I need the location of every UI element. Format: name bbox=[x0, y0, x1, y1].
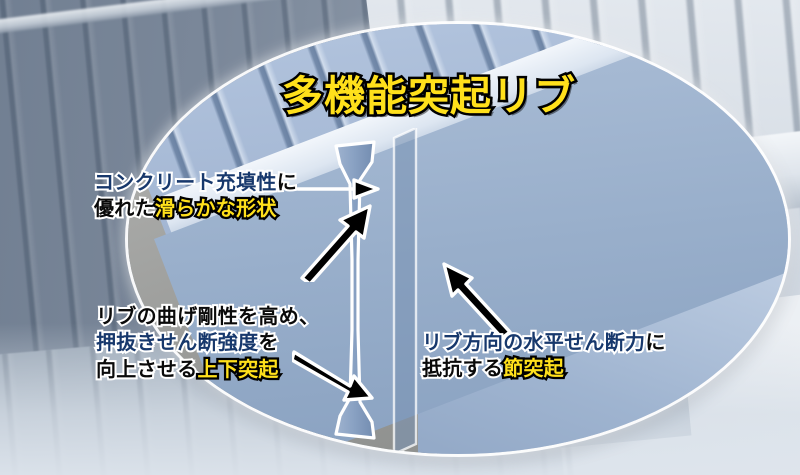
callout-text-navy: リブ方向の水平せん断力 bbox=[422, 332, 645, 354]
rib-side-edge bbox=[390, 128, 430, 454]
callout-line: 優れた滑らかな形状 bbox=[94, 196, 297, 222]
callout-text-black: 優れた bbox=[94, 198, 155, 220]
callout-line: コンクリート充填性に bbox=[94, 170, 297, 196]
callout-line: リブ方向の水平せん断力に bbox=[422, 330, 666, 356]
callout-text-black: 向上させる bbox=[96, 359, 198, 381]
callout-text-yellow: 節突起 bbox=[503, 358, 564, 380]
callout-line: 向上させる上下突起 bbox=[96, 357, 319, 383]
callout-text-black: に bbox=[645, 332, 665, 354]
figure-title: 多機能突起リブ bbox=[282, 62, 576, 122]
callout-line: 抵抗する節突起 bbox=[422, 356, 666, 382]
callout-line: リブの曲げ剛性を高め、 bbox=[96, 304, 319, 330]
callout-text-black: 抵抗する bbox=[422, 358, 503, 380]
callout-text-yellow: 上下突起 bbox=[198, 359, 279, 381]
callout-text-black: に bbox=[277, 172, 297, 194]
callout-text-navy: 押抜きせん断強度 bbox=[96, 332, 258, 354]
figure-canvas: 多機能突起リブ コンクリート充填性に優れた滑らかな形状 リブの曲げ剛性を高め、押… bbox=[0, 0, 800, 475]
callout-text-black: リブの曲げ剛性を高め、 bbox=[96, 306, 319, 328]
callout-text-black: を bbox=[258, 332, 278, 354]
callout-text-yellow: 滑らかな形状 bbox=[155, 198, 277, 220]
callout-text-navy: コンクリート充填性 bbox=[94, 172, 277, 194]
callout-line: 押抜きせん断強度を bbox=[96, 330, 319, 356]
callout-node-projection: リブ方向の水平せん断力に抵抗する節突起 bbox=[422, 330, 666, 383]
callout-updown-projection: リブの曲げ剛性を高め、押抜きせん断強度を向上させる上下突起 bbox=[96, 304, 319, 383]
callout-smooth-shape: コンクリート充填性に優れた滑らかな形状 bbox=[94, 170, 297, 223]
